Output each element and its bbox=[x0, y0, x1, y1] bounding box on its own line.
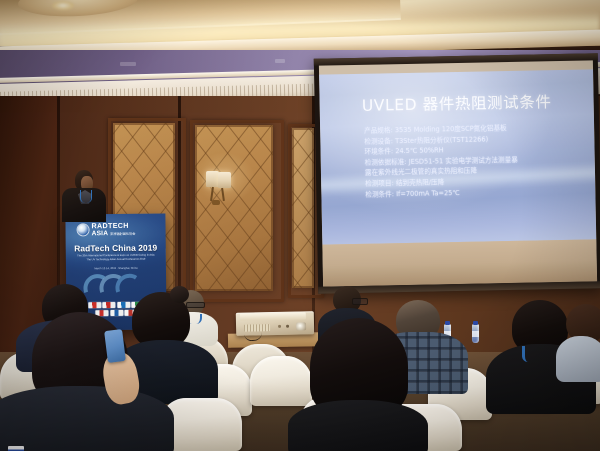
cc-swoosh-icon bbox=[82, 272, 152, 299]
sponsor-logo-8 bbox=[110, 309, 123, 315]
wall-sconce-shade-right bbox=[218, 172, 231, 188]
globe-icon bbox=[78, 225, 89, 236]
lattice-panel-center bbox=[195, 125, 273, 291]
projection-screen: UVLED 器件热阻测试条件 产品规格: 3535 Molding 120度SC… bbox=[314, 53, 600, 293]
projected-slide: UVLED 器件热阻测试条件 产品规格: 3535 Molding 120度SC… bbox=[319, 69, 596, 244]
ceiling-downlight-icon bbox=[52, 1, 74, 10]
sponsor-logo-2 bbox=[88, 302, 101, 308]
lattice-line bbox=[195, 125, 228, 291]
flag-patch-icon bbox=[8, 446, 24, 451]
sponsor-logo-4 bbox=[117, 302, 130, 308]
lattice-panel-right bbox=[292, 128, 314, 288]
lattice-line bbox=[292, 128, 303, 288]
projector-top-panel bbox=[240, 312, 306, 320]
lattice-line bbox=[195, 125, 227, 291]
slide-body: 产品规格: 3535 Molding 120度SCP氮化铝基板检测设备: T3S… bbox=[364, 121, 591, 199]
event-subtitle: The 20th International Conference & Expo… bbox=[74, 254, 158, 262]
ceiling-vent-icon bbox=[275, 59, 285, 63]
screen-lower-blank bbox=[322, 239, 597, 286]
event-title: RadTech China 2019 bbox=[66, 242, 166, 253]
radtech-logo: RADTECH ASIA 亚洲辐射固化协会 bbox=[77, 222, 135, 238]
lattice-line bbox=[205, 125, 273, 291]
lattice-line bbox=[206, 125, 273, 291]
projector-indicator bbox=[278, 325, 281, 328]
logo-asia-chinese: 亚洲辐射固化协会 bbox=[110, 231, 136, 235]
screen-surface: UVLED 器件热阻测试条件 产品规格: 3535 Molding 120度SC… bbox=[319, 60, 597, 286]
sponsor-logo-3 bbox=[103, 302, 116, 308]
ceiling-vent-icon bbox=[120, 62, 136, 66]
event-date: March 12-14, 2019 · Shanghai, China bbox=[74, 267, 158, 271]
bottle-cap bbox=[473, 321, 478, 325]
attendee-shoulders bbox=[556, 336, 600, 382]
hair-bun bbox=[170, 286, 189, 303]
sconce-base bbox=[212, 200, 220, 205]
slide-title: UVLED 器件热阻测试条件 bbox=[319, 89, 593, 116]
projector-indicator bbox=[286, 325, 289, 328]
eyeglasses-icon bbox=[352, 298, 368, 305]
chair bbox=[250, 356, 312, 406]
attendee-shoulders bbox=[288, 400, 428, 451]
speaker-lanyard bbox=[80, 190, 92, 203]
bottle-cap bbox=[445, 321, 450, 325]
projector-lens-icon bbox=[296, 322, 306, 330]
logo-asia-text: ASIA 亚洲辐射固化协会 bbox=[92, 229, 136, 237]
conference-room-photo: UVLED 器件热阻测试条件 产品规格: 3535 Molding 120度SC… bbox=[0, 0, 600, 451]
bottle-label bbox=[472, 331, 479, 337]
attendee-shoulders bbox=[0, 386, 174, 451]
sunglasses-icon bbox=[186, 302, 205, 308]
smartphone[interactable] bbox=[104, 329, 126, 363]
